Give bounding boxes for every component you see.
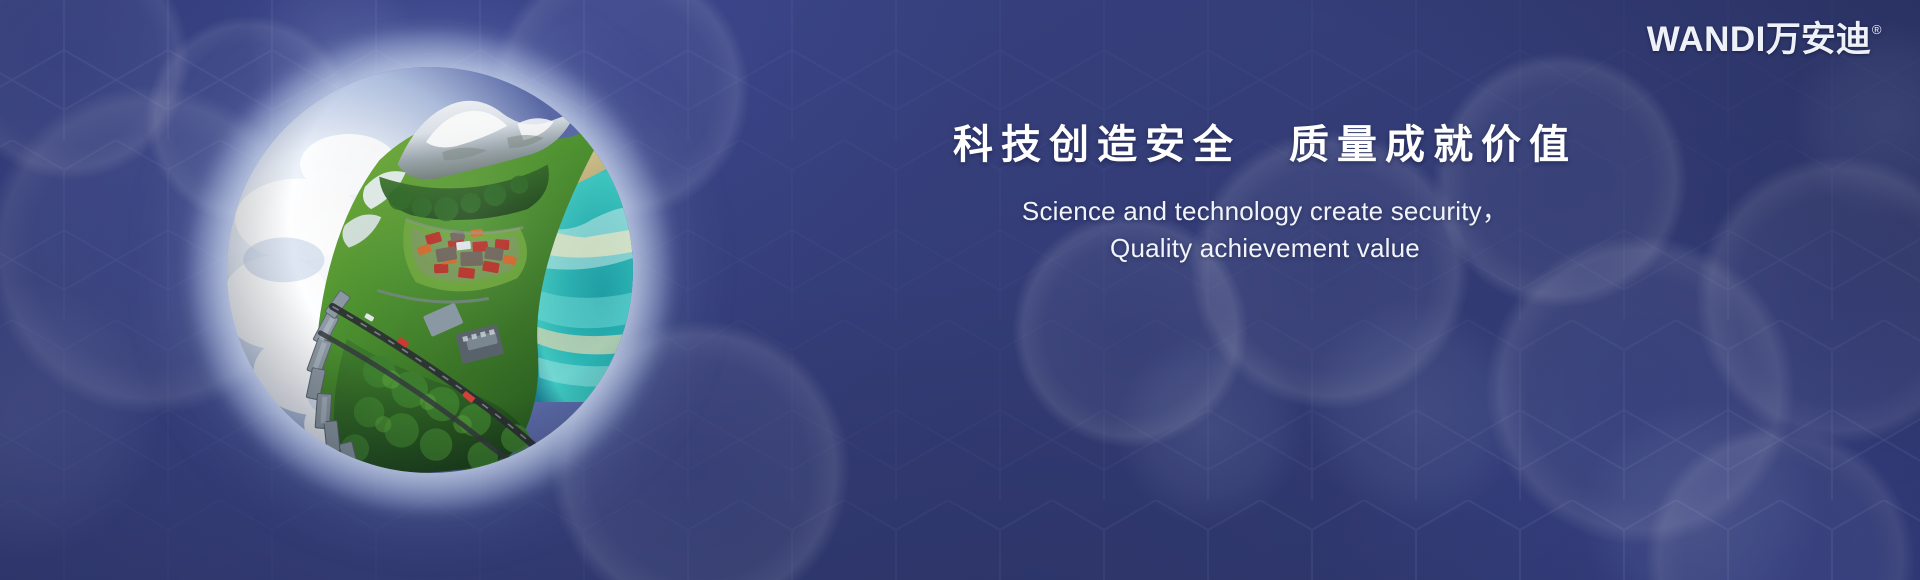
headline-chinese: 科技创造安全 质量成就价值: [760, 120, 1770, 171]
logo-latin-text: WANDI: [1647, 22, 1766, 57]
registered-trademark-icon: ®: [1872, 23, 1882, 36]
copy-block: 科技创造安全 质量成就价值 Science and technology cre…: [760, 120, 1770, 267]
subtitle-line-2: Quality achievement value: [760, 230, 1770, 267]
subtitle-line-1: Science and technology create security，: [760, 193, 1770, 230]
promotional-banner: WANDI 万安迪 ® 科技创造安全 质量成就价值 Science and te…: [0, 0, 1920, 580]
brand-logo[interactable]: WANDI 万安迪 ®: [1647, 22, 1882, 57]
tiny-planet-photo: [227, 67, 633, 473]
subtitle-english: Science and technology create security， …: [760, 193, 1770, 267]
globe-illustration: [180, 20, 680, 520]
logo-chinese-text: 万安迪: [1766, 22, 1871, 57]
